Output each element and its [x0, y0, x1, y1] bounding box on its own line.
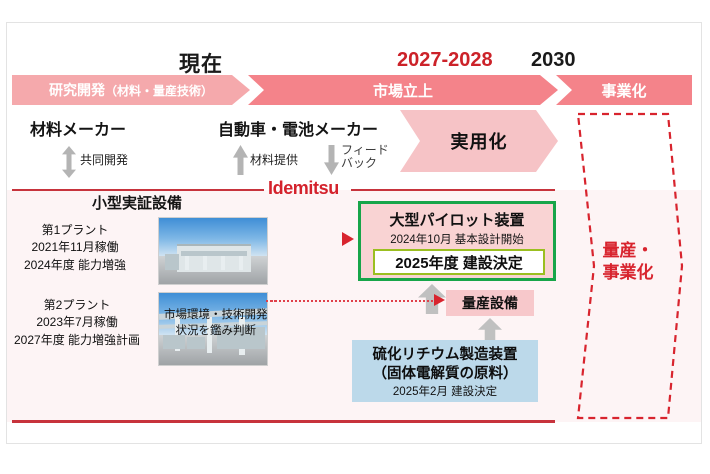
plant-1-line-1: 第1プラント — [24, 222, 126, 239]
phase-band-market-label: 市場立上 — [373, 80, 433, 101]
feedback-label: フィード バック — [341, 144, 389, 170]
plant-1-line-3: 2024年度 能力増強 — [24, 257, 126, 274]
dotted-connector-line — [271, 300, 437, 302]
judgement-note-line-1: 市場環境・技術開発 — [164, 307, 268, 323]
timeline-label-now: 現在 — [179, 48, 223, 78]
realization-label: 実用化 — [451, 128, 508, 154]
phase-band-commercialization: 事業化 — [556, 75, 692, 105]
phase-band-market-launch: 市場立上 — [248, 75, 558, 105]
pilot-subtitle: 2024年10月 基本設計開始 — [361, 231, 553, 247]
pilot-title: 大型パイロット装置 — [361, 209, 553, 230]
mass-production-zone: 量産・ 事業化 — [564, 110, 692, 422]
arrow-right-icon — [342, 232, 354, 246]
mass-production-equipment-label: 量産設備 — [446, 290, 534, 316]
arrow-right-icon — [434, 294, 445, 306]
mass-zone-line-1: 量産・ — [564, 240, 692, 262]
lithium-sulfide-equipment-box: 硫化リチウム製造装置 （固体電解質の原料） 2025年2月 建設決定 — [352, 340, 538, 402]
lithium-box-line-1: 硫化リチウム製造装置 — [352, 343, 538, 364]
plant-2-line-2: 2023年7月稼働 — [14, 314, 140, 331]
mass-zone-line-2: 事業化 — [564, 262, 692, 284]
auto-battery-maker-heading: 自動車・電池メーカー — [218, 116, 378, 140]
phase-band-rd-sub: （材料・量産技術） — [105, 82, 213, 99]
lithium-box-line-3: 2025年2月 建設決定 — [352, 383, 538, 399]
plant-1-text: 第1プラント 2021年11月稼働 2024年度 能力増強 — [24, 222, 126, 274]
photo-column — [221, 256, 225, 270]
plant-1-line-2: 2021年11月稼働 — [24, 239, 126, 256]
phase-band-rd-main: 研究開発 — [49, 80, 105, 100]
realization-chevron: 実用化 — [400, 110, 558, 172]
pilot-decision-badge: 2025年度 建設決定 — [373, 249, 545, 275]
divider-rule-bottom — [12, 420, 555, 423]
co-development-label: 共同開発 — [80, 154, 128, 167]
plant-1-photo — [158, 217, 268, 285]
company-logo-text: Idemitsu — [268, 178, 339, 199]
feedback-line-2: バック — [341, 157, 389, 170]
lithium-box-line-2: （固体電解質の原料） — [352, 362, 538, 383]
material-supply-label: 材料提供 — [250, 154, 298, 167]
photo-column — [185, 256, 189, 270]
large-pilot-equipment-box: 大型パイロット装置 2024年10月 基本設計開始 2025年度 建設決定 — [358, 201, 556, 281]
divider-rule-left — [12, 189, 264, 191]
photo-column — [203, 256, 207, 270]
plant-2-line-1: 第2プラント — [14, 297, 140, 314]
plant-2-text: 第2プラント 2023年7月稼働 2027年度 能力増強計画 — [14, 297, 140, 349]
judgement-note: 市場環境・技術開発 状況を鑑み判断 — [164, 307, 268, 339]
judgement-note-line-2: 状況を鑑み判断 — [164, 323, 268, 339]
phase-band-business-label: 事業化 — [601, 80, 646, 101]
plant-2-line-3: 2027年度 能力増強計画 — [14, 332, 140, 349]
photo-building-band — [181, 251, 247, 256]
timeline-label-2027-2028: 2027-2028 — [397, 49, 493, 72]
photo-column — [239, 256, 243, 270]
material-maker-heading: 材料メーカー — [30, 116, 126, 140]
small-scale-demo-heading: 小型実証設備 — [92, 192, 182, 213]
mass-production-zone-label: 量産・ 事業化 — [564, 240, 692, 284]
timeline-label-2030: 2030 — [531, 49, 576, 72]
photo-side-structure — [165, 254, 179, 270]
divider-rule-right — [351, 189, 555, 191]
roadmap-diagram: 現在 2027-2028 2030 研究開発（材料・量産技術） 市場立上 事業化… — [0, 0, 710, 474]
phase-band-research-development: 研究開発（材料・量産技術） — [12, 75, 250, 105]
